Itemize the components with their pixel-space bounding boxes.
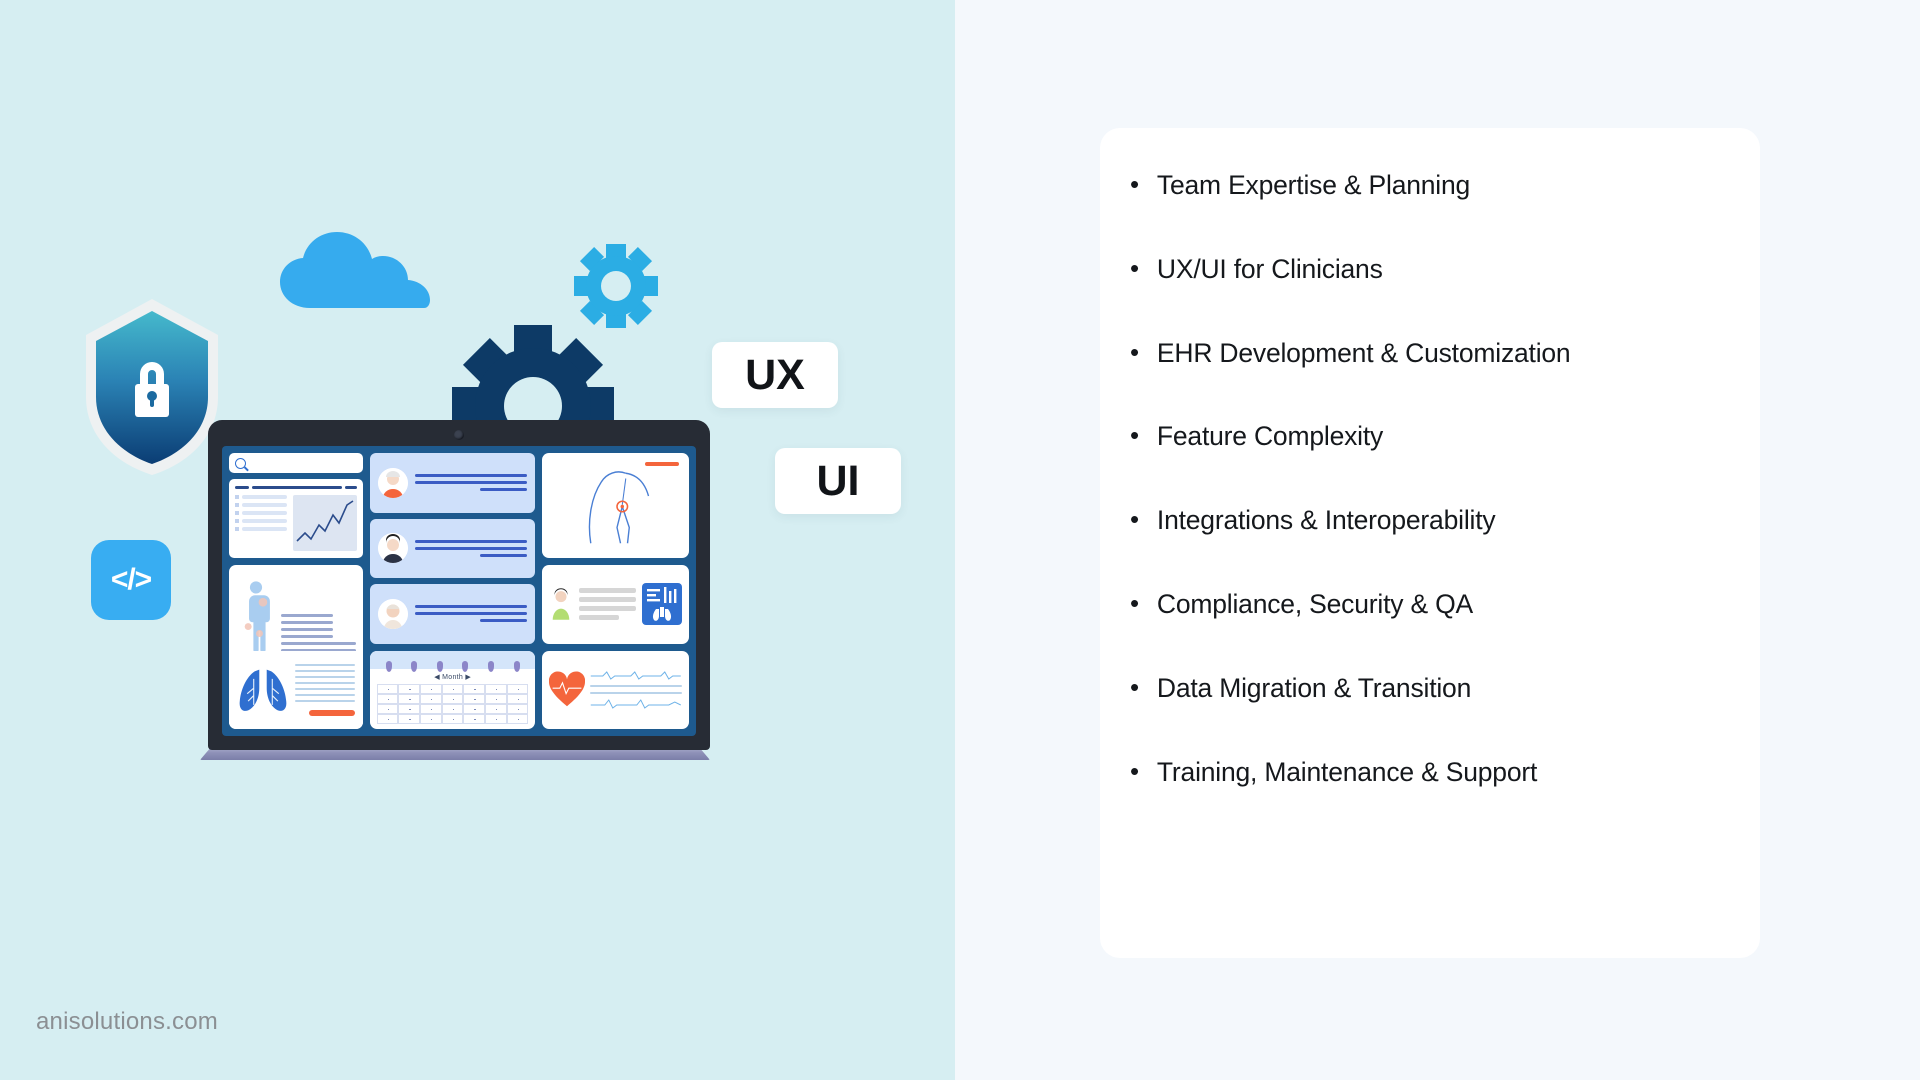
bullet-icon: • bbox=[1130, 673, 1139, 702]
search-input[interactable] bbox=[229, 453, 363, 473]
gear-icon-small bbox=[574, 244, 658, 328]
list-item-label: Integrations & Interoperability bbox=[1157, 505, 1496, 537]
list-item-label: UX/UI for Clinicians bbox=[1157, 254, 1383, 286]
patient-list bbox=[370, 453, 536, 644]
cloud-icon bbox=[280, 230, 430, 308]
calendar-prev-icon[interactable]: ◀ bbox=[434, 674, 440, 681]
ui-tag: UI bbox=[775, 448, 901, 514]
avatar bbox=[378, 599, 408, 629]
metric-list bbox=[235, 495, 287, 551]
ecg-trace-lines bbox=[590, 670, 682, 709]
feature-list: • Team Expertise & Planning • UX/UI for … bbox=[1100, 128, 1760, 788]
bullet-icon: • bbox=[1130, 338, 1139, 367]
bullet-icon: • bbox=[1130, 757, 1139, 786]
list-item: • Compliance, Security & QA bbox=[1130, 589, 1728, 621]
clinician-avatar-icon bbox=[549, 587, 573, 621]
line-chart-icon bbox=[293, 495, 357, 551]
heart-icon bbox=[549, 671, 585, 709]
calendar-card: ◀ Month ▶ bbox=[370, 651, 536, 730]
slide-canvas: </> bbox=[0, 0, 1920, 1080]
avatar bbox=[378, 468, 408, 498]
calendar-rings bbox=[370, 651, 536, 669]
search-and-chart-column bbox=[229, 453, 363, 558]
patient-list-item[interactable] bbox=[370, 584, 536, 644]
list-item: • EHR Development & Customization bbox=[1130, 338, 1728, 370]
list-item-label: Training, Maintenance & Support bbox=[1157, 757, 1537, 789]
list-item: • UX/UI for Clinicians bbox=[1130, 254, 1728, 286]
calendar-next-icon[interactable]: ▶ bbox=[465, 674, 471, 681]
ecg-wave-icon bbox=[590, 670, 682, 680]
heart-ecg-card bbox=[542, 651, 689, 730]
ui-tag-label: UI bbox=[817, 457, 860, 506]
lungs-text-lines bbox=[295, 664, 355, 716]
ux-tag-label: UX bbox=[745, 351, 805, 400]
search-icon bbox=[235, 458, 246, 469]
calendar-grid[interactable] bbox=[377, 684, 529, 724]
list-item: • Integrations & Interoperability bbox=[1130, 505, 1728, 537]
laptop-illustration: ◀ Month ▶ bbox=[200, 420, 710, 740]
patient-list-item[interactable] bbox=[370, 519, 536, 579]
lab-results-tile bbox=[642, 583, 682, 625]
list-item: • Team Expertise & Planning bbox=[1130, 170, 1728, 202]
torso-sketch-icon bbox=[550, 461, 681, 545]
lungs-icon bbox=[237, 664, 289, 716]
bullet-icon: • bbox=[1130, 254, 1139, 283]
human-body-icon bbox=[236, 574, 276, 660]
code-icon: </> bbox=[91, 540, 171, 620]
list-item: • Data Migration & Transition bbox=[1130, 673, 1728, 705]
list-item: • Training, Maintenance & Support bbox=[1130, 757, 1728, 789]
right-content-panel: • Team Expertise & Planning • UX/UI for … bbox=[955, 0, 1920, 1080]
highlight-bar bbox=[645, 462, 679, 466]
list-item-label: EHR Development & Customization bbox=[1157, 338, 1571, 370]
list-item-label: Feature Complexity bbox=[1157, 421, 1383, 453]
ux-tag: UX bbox=[712, 342, 838, 408]
lungs-card bbox=[229, 651, 363, 730]
left-illustration-panel: </> bbox=[0, 0, 955, 1080]
list-item: • Feature Complexity bbox=[1130, 421, 1728, 453]
bullet-icon: • bbox=[1130, 589, 1139, 618]
card-title-placeholder bbox=[235, 486, 357, 489]
ecg-wave-icon bbox=[590, 699, 682, 709]
bullet-icon: • bbox=[1130, 170, 1139, 199]
body-diagram-card bbox=[542, 453, 689, 558]
watermark: anisolutions.com bbox=[36, 1008, 218, 1036]
calendar-month-nav[interactable]: ◀ Month ▶ bbox=[370, 669, 536, 684]
code-icon-glyph: </> bbox=[111, 563, 151, 597]
calendar-month-label: Month bbox=[442, 674, 463, 681]
feature-list-card: • Team Expertise & Planning • UX/UI for … bbox=[1100, 128, 1760, 958]
list-item-label: Data Migration & Transition bbox=[1157, 673, 1471, 705]
laptop-lid: ◀ Month ▶ bbox=[208, 420, 710, 750]
analytics-card bbox=[229, 479, 363, 558]
list-item-label: Team Expertise & Planning bbox=[1157, 170, 1470, 202]
lungs-status-pill bbox=[309, 710, 355, 716]
clinician-record-card bbox=[542, 565, 689, 644]
bullet-icon: • bbox=[1130, 421, 1139, 450]
avatar bbox=[378, 533, 408, 563]
list-item-label: Compliance, Security & QA bbox=[1157, 589, 1473, 621]
bullet-icon: • bbox=[1130, 505, 1139, 534]
patient-list-item[interactable] bbox=[370, 453, 536, 513]
webcam-icon bbox=[454, 430, 464, 440]
record-lines bbox=[579, 588, 636, 620]
dashboard-screen: ◀ Month ▶ bbox=[222, 446, 696, 736]
